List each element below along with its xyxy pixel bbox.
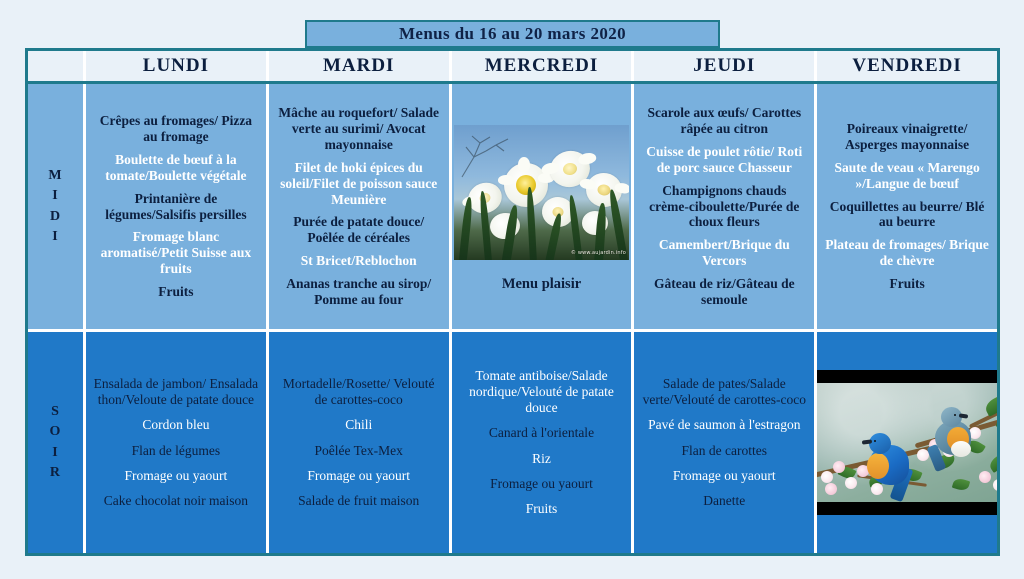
menu-line: Poireaux vinaigrette/ Asperges mayonnais… <box>824 121 990 153</box>
menu-list: Tomate antiboise/Salade nordique/Velouté… <box>452 362 632 523</box>
header-cell-mercredi: MERCREDI <box>449 51 632 81</box>
menu-line: Purée de patate douce/ Poêlée de céréale… <box>276 214 442 246</box>
menu-line: Mortadelle/Rosette/ Velouté de carottes-… <box>276 376 442 408</box>
daffodil-core <box>516 175 536 195</box>
menu-list: Ensalada de jambon/ Ensalada thon/Velout… <box>86 370 266 515</box>
menu-line: Canard à l'orientale <box>489 425 594 441</box>
menu-line: Ensalada de jambon/ Ensalada thon/Velout… <box>93 376 259 408</box>
header-cell-vendredi: VENDREDI <box>814 51 997 81</box>
header-cell-jeudi: JEUDI <box>631 51 814 81</box>
menu-line: Scarole aux œufs/ Carottes râpée au citr… <box>641 105 807 137</box>
daffodils-photo: © www.aujardin.info <box>454 125 629 260</box>
menu-line: Saute de veau « Marengo »/Langue de bœuf <box>824 160 990 192</box>
menu-line: Cuisse de poulet rôtie/ Roti de porc sau… <box>641 144 807 176</box>
menu-line: Flan de légumes <box>132 443 220 459</box>
row-label-soir: SOIR <box>50 402 62 483</box>
menu-line: St Bricet/Reblochon <box>301 253 417 269</box>
day-label-vendredi: VENDREDI <box>852 55 961 77</box>
menu-line: Fromage blanc aromatisé/Petit Suisse aux… <box>93 229 259 277</box>
cell-soir-lundi: Ensalada de jambon/ Ensalada thon/Velout… <box>83 332 266 553</box>
menu-line: Gâteau de riz/Gâteau de semoule <box>641 276 807 308</box>
menu-line: Salade de pates/Salade verte/Velouté de … <box>641 376 807 408</box>
menu-line: Ananas tranche au sirop/ Pomme au four <box>276 276 442 308</box>
menu-line: Coquillettes au beurre/ Blé au beurre <box>824 199 990 231</box>
menu-line: Flan de carottes <box>682 443 767 459</box>
photo-watermark: © www.aujardin.info <box>571 250 626 256</box>
menu-line: Fruits <box>526 501 558 517</box>
header-corner-cell <box>28 51 83 81</box>
row-label-letter: O <box>50 422 62 442</box>
menu-table: LUNDI MARDI MERCREDI JEUDI VENDREDI MIDI… <box>25 48 1000 556</box>
menu-line: Danette <box>703 493 745 509</box>
menu-line: Cordon bleu <box>142 417 209 433</box>
cell-midi-vendredi: Poireaux vinaigrette/ Asperges mayonnais… <box>814 84 997 329</box>
row-label-letter: I <box>52 186 58 206</box>
menu-line: Fruits <box>158 284 193 300</box>
day-label-mercredi: MERCREDI <box>485 55 599 77</box>
bluebirds-photo <box>817 370 997 515</box>
cell-soir-mardi: Mortadelle/Rosette/ Velouté de carottes-… <box>266 332 449 553</box>
menu-list: Crêpes au fromages/ Pizza au fromageBoul… <box>86 107 266 306</box>
page-title-banner: Menus du 16 au 20 mars 2020 <box>305 20 720 48</box>
menu-line: Tomate antiboise/Salade nordique/Velouté… <box>459 368 625 417</box>
day-label-mardi: MARDI <box>323 55 395 77</box>
row-label-midi-cell: MIDI <box>28 84 83 329</box>
bluebirds-photo-inner <box>817 383 997 502</box>
page-title: Menus du 16 au 20 mars 2020 <box>399 24 626 44</box>
menu-line: Pavé de saumon à l'estragon <box>648 417 800 433</box>
menu-list: Salade de pates/Salade verte/Velouté de … <box>634 370 814 515</box>
bluebird-front <box>861 427 931 495</box>
menu-line: Mâche au roquefort/ Salade verte au suri… <box>276 105 442 153</box>
menu-line: Cake chocolat noir maison <box>104 493 248 509</box>
table-row-midi: MIDI Crêpes au fromages/ Pizza au fromag… <box>28 84 997 332</box>
menu-line: Fruits <box>889 276 924 292</box>
table-row-soir: SOIR Ensalada de jambon/ Ensalada thon/V… <box>28 332 997 553</box>
menu-line: Fromage ou yaourt <box>490 476 593 492</box>
menu-line: Poêlée Tex-Mex <box>314 443 402 459</box>
menu-list: Poireaux vinaigrette/ Asperges mayonnais… <box>817 115 997 298</box>
menu-line: Salade de fruit maison <box>298 493 419 509</box>
row-label-letter: I <box>52 443 58 463</box>
plaisir-block: © www.aujardin.info Menu plaisir <box>452 84 632 329</box>
bluebird-back <box>927 405 991 465</box>
cell-soir-vendredi <box>814 332 997 553</box>
menu-list: Mortadelle/Rosette/ Velouté de carottes-… <box>269 370 449 515</box>
table-header-row: LUNDI MARDI MERCREDI JEUDI VENDREDI <box>28 51 997 84</box>
row-label-letter: R <box>50 463 61 483</box>
menu-line: Chili <box>345 417 372 433</box>
menu-list: Scarole aux œufs/ Carottes râpée au citr… <box>634 99 814 314</box>
plaisir-caption: Menu plaisir <box>502 276 581 293</box>
cell-soir-jeudi: Salade de pates/Salade verte/Velouté de … <box>631 332 814 553</box>
row-label-letter: I <box>52 227 58 247</box>
cell-midi-jeudi: Scarole aux œufs/ Carottes râpée au citr… <box>631 84 814 329</box>
day-label-lundi: LUNDI <box>143 55 209 77</box>
cell-soir-mercredi: Tomate antiboise/Salade nordique/Velouté… <box>449 332 632 553</box>
cell-midi-mercredi: © www.aujardin.info Menu plaisir <box>449 84 632 329</box>
row-label-letter: M <box>48 166 62 186</box>
menu-line: Printanière de légumes/Salsifis persille… <box>93 191 259 223</box>
menu-line: Crêpes au fromages/ Pizza au fromage <box>93 113 259 145</box>
menu-line: Camembert/Brique du Vercors <box>641 237 807 269</box>
menu-line: Champignons chauds crème-ciboulette/Puré… <box>641 183 807 231</box>
row-label-soir-cell: SOIR <box>28 332 83 553</box>
menu-line: Fromage ou yaourt <box>125 468 228 484</box>
menu-page: Menus du 16 au 20 mars 2020 LUNDI MARDI … <box>0 0 1024 579</box>
menu-line: Riz <box>532 451 551 467</box>
cell-midi-mardi: Mâche au roquefort/ Salade verte au suri… <box>266 84 449 329</box>
header-cell-mardi: MARDI <box>266 51 449 81</box>
menu-line: Filet de hoki épices du soleil/Filet de … <box>276 160 442 208</box>
header-cell-lundi: LUNDI <box>83 51 266 81</box>
menu-line: Boulette de bœuf à la tomate/Boulette vé… <box>93 152 259 184</box>
menu-line: Fromage ou yaourt <box>307 468 410 484</box>
row-label-letter: S <box>51 402 60 422</box>
day-label-jeudi: JEUDI <box>693 55 755 77</box>
row-label-midi: MIDI <box>48 166 62 247</box>
menu-line: Plateau de fromages/ Brique de chèvre <box>824 237 990 269</box>
cell-midi-lundi: Crêpes au fromages/ Pizza au fromageBoul… <box>83 84 266 329</box>
menu-line: Fromage ou yaourt <box>673 468 776 484</box>
row-label-letter: D <box>50 207 61 227</box>
menu-list: Mâche au roquefort/ Salade verte au suri… <box>269 99 449 314</box>
